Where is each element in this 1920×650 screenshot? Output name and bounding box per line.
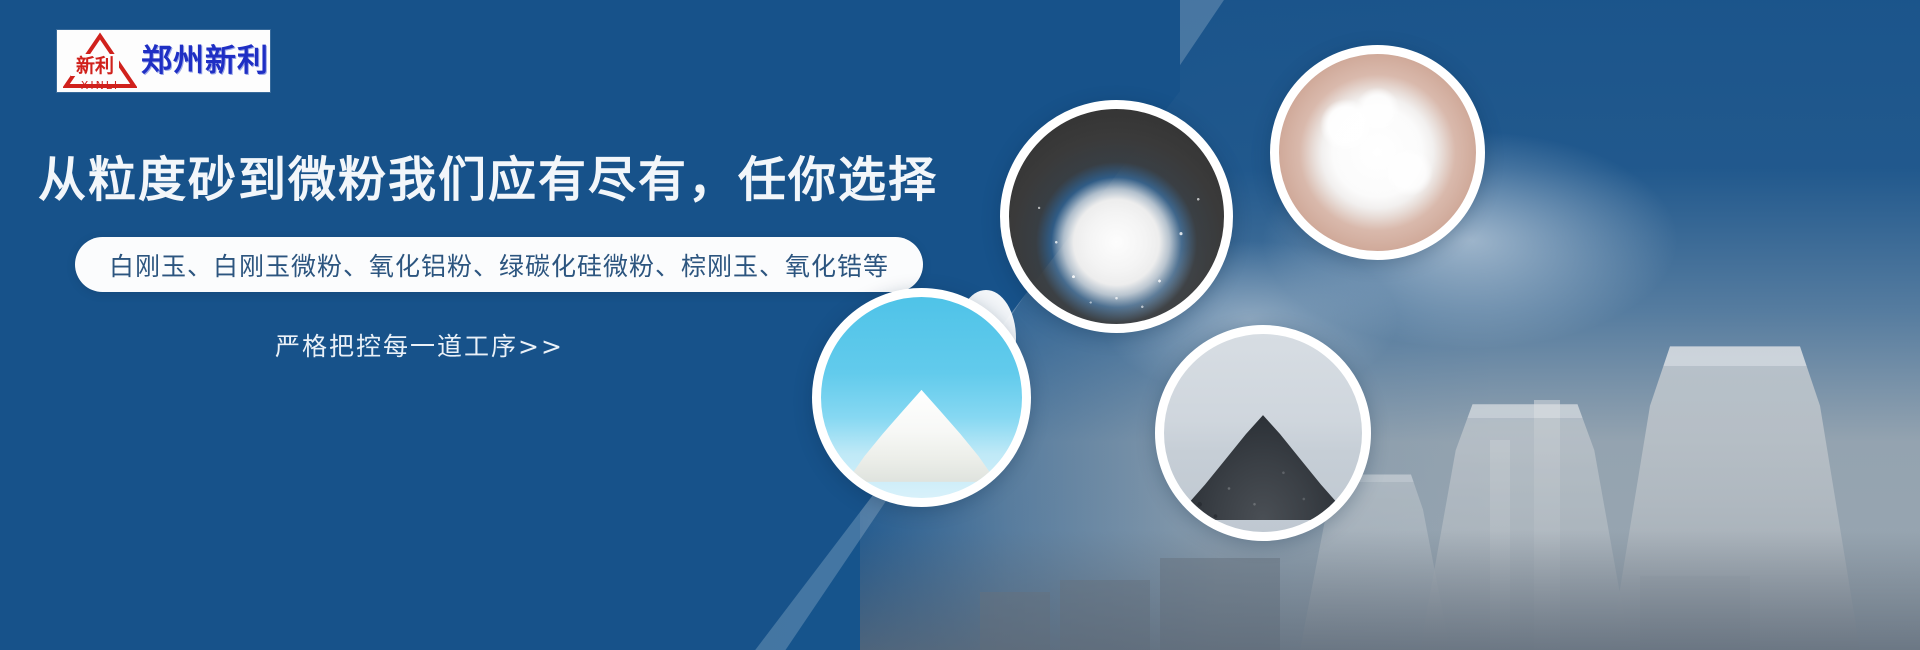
company-logo[interactable]: 新利 XINLI 郑州新利: [57, 30, 270, 92]
powder-highlights: [1279, 54, 1476, 251]
powder-cone-shape: [847, 390, 997, 482]
product-list-pill: 白刚玉、白刚玉微粉、氧化铝粉、绿碳化硅微粉、棕刚玉、氧化锆等: [75, 237, 923, 292]
hero-headline: 从粒度砂到微粉我们应有尽有，任你选择: [38, 140, 938, 210]
black-grit-scatter: [1164, 334, 1362, 532]
product-image-white-alumina-micropowder: [1270, 45, 1485, 260]
promo-banner: 新利 XINLI 郑州新利 从粒度砂到微粉我们应有尽有，任你选择 白刚玉、白刚玉…: [0, 0, 1920, 650]
product-image-black-silicon-carbide-grit: [1155, 325, 1371, 541]
grit-speckles: [1009, 109, 1224, 324]
xinli-triangle-icon: 新利 XINLI: [63, 32, 137, 90]
logo-company-name: 郑州新利: [141, 46, 269, 77]
process-cta-text[interactable]: 严格把控每一道工序>>: [275, 327, 564, 363]
product-image-white-powder-cone: [812, 288, 1031, 507]
svg-text:XINLI: XINLI: [81, 79, 119, 90]
svg-text:新利: 新利: [76, 54, 114, 77]
product-image-white-fused-alumina-grit: [1000, 100, 1233, 333]
product-list-text: 白刚玉、白刚玉微粉、氧化铝粉、绿碳化硅微粉、棕刚玉、氧化锆等: [109, 247, 889, 283]
ground-shadow: [860, 530, 1920, 650]
